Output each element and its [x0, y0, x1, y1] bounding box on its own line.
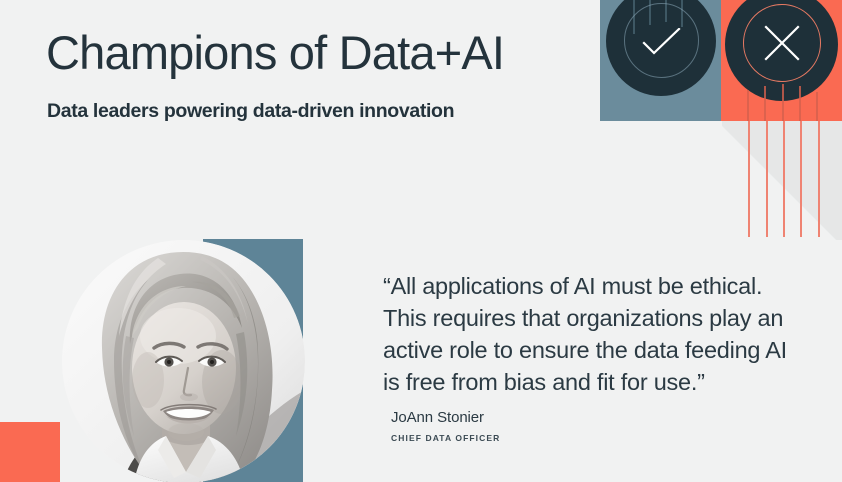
avatar: [62, 240, 305, 482]
vertical-line-3: [783, 121, 785, 237]
page-title: Champions of Data+AI: [46, 28, 504, 79]
cross-badge: [721, 0, 842, 121]
page-subtitle: Data leaders powering data-driven innova…: [47, 100, 454, 123]
quote-author-role: CHIEF DATA OFFICER: [391, 433, 500, 443]
check-icon: [642, 28, 682, 58]
vertical-line-4: [800, 121, 802, 237]
diagonal-wash-decoration: [722, 121, 842, 240]
portrait-image: [62, 240, 305, 482]
slide-canvas: Champions of Data+AI Data leaders poweri…: [0, 0, 842, 482]
vertical-line-5: [818, 121, 820, 237]
close-icon: [763, 24, 801, 62]
vertical-line-2: [766, 121, 768, 237]
quote-author-name: JoAnn Stonier: [391, 409, 484, 426]
vertical-line-1: [748, 121, 750, 237]
quote-text: “All applications of AI must be ethical.…: [383, 270, 793, 398]
check-badge: [600, 0, 721, 121]
coral-accent-square: [0, 422, 60, 482]
